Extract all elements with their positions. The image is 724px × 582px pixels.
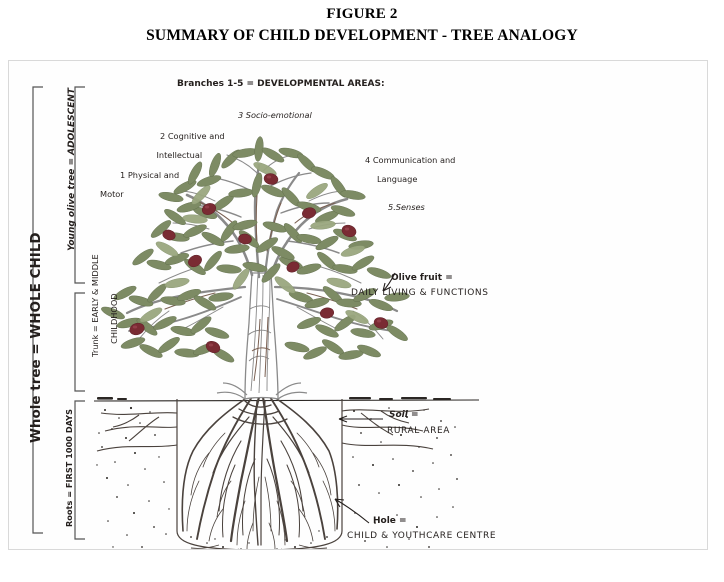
callout-olive-fruit-term: Olive fruit = — [391, 273, 453, 284]
side-label-trunk-line1: Trunk = EARLY & MIDDLE — [90, 254, 100, 357]
branch-label-cognitive-intellectual: 2 Cognitive and Intellectual — [134, 103, 225, 200]
tree-analogy-diagram: Branches 1-5 = DEVELOPMENTAL AREAS: 1 Ph… — [9, 61, 708, 550]
branch-label-communication-language-line2: Language — [339, 175, 455, 185]
root-system — [182, 397, 337, 549]
branch-label-senses: 5.Senses — [388, 203, 425, 213]
branch-label-socio-emotional: 3 Socio-emotional — [238, 111, 312, 121]
side-label-trunk-line2: CHILDHOOD — [110, 254, 120, 383]
side-label-whole-tree: Whole tree = WHOLE CHILD — [29, 232, 45, 443]
roots-bracket — [75, 401, 85, 539]
callout-soil-term: Soil = — [389, 410, 419, 421]
branch-label-communication-language-line1: 4 Communication and — [365, 155, 455, 165]
branch-label-cognitive-intellectual-line2: Intellectual — [134, 151, 225, 161]
side-label-trunk: Trunk = EARLY & MIDDLE CHILDHOOD — [62, 254, 159, 383]
figure-title-block: FIGURE 2 SUMMARY OF CHILD DEVELOPMENT - … — [0, 4, 724, 46]
page-root: FIGURE 2 SUMMARY OF CHILD DEVELOPMENT - … — [0, 0, 724, 582]
page-title: SUMMARY OF CHILD DEVELOPMENT - TREE ANAL… — [0, 25, 724, 46]
branch-label-cognitive-intellectual-line1: 2 Cognitive and — [160, 131, 225, 141]
callout-soil-value: RURAL AREA — [387, 426, 450, 437]
side-label-young-olive-tree: Young olive tree = ADOLESCENT — [67, 88, 78, 251]
figure-image-frame: Branches 1-5 = DEVELOPMENTAL AREAS: 1 Ph… — [8, 60, 708, 550]
hole-leader — [335, 499, 369, 523]
side-label-roots: Roots = FIRST 1000 DAYS — [65, 409, 75, 527]
callout-hole-value: CHILD & YOUTHCARE CENTRE — [347, 531, 496, 542]
figure-number: FIGURE 2 — [0, 4, 724, 25]
callout-hole-term: Hole = — [373, 516, 407, 527]
planting-hole-outline — [177, 399, 342, 550]
callout-olive-fruit-value: DAILY LIVING & FUNCTIONS — [351, 288, 489, 299]
branches-heading: Branches 1-5 = DEVELOPMENTAL AREAS: — [177, 79, 385, 90]
